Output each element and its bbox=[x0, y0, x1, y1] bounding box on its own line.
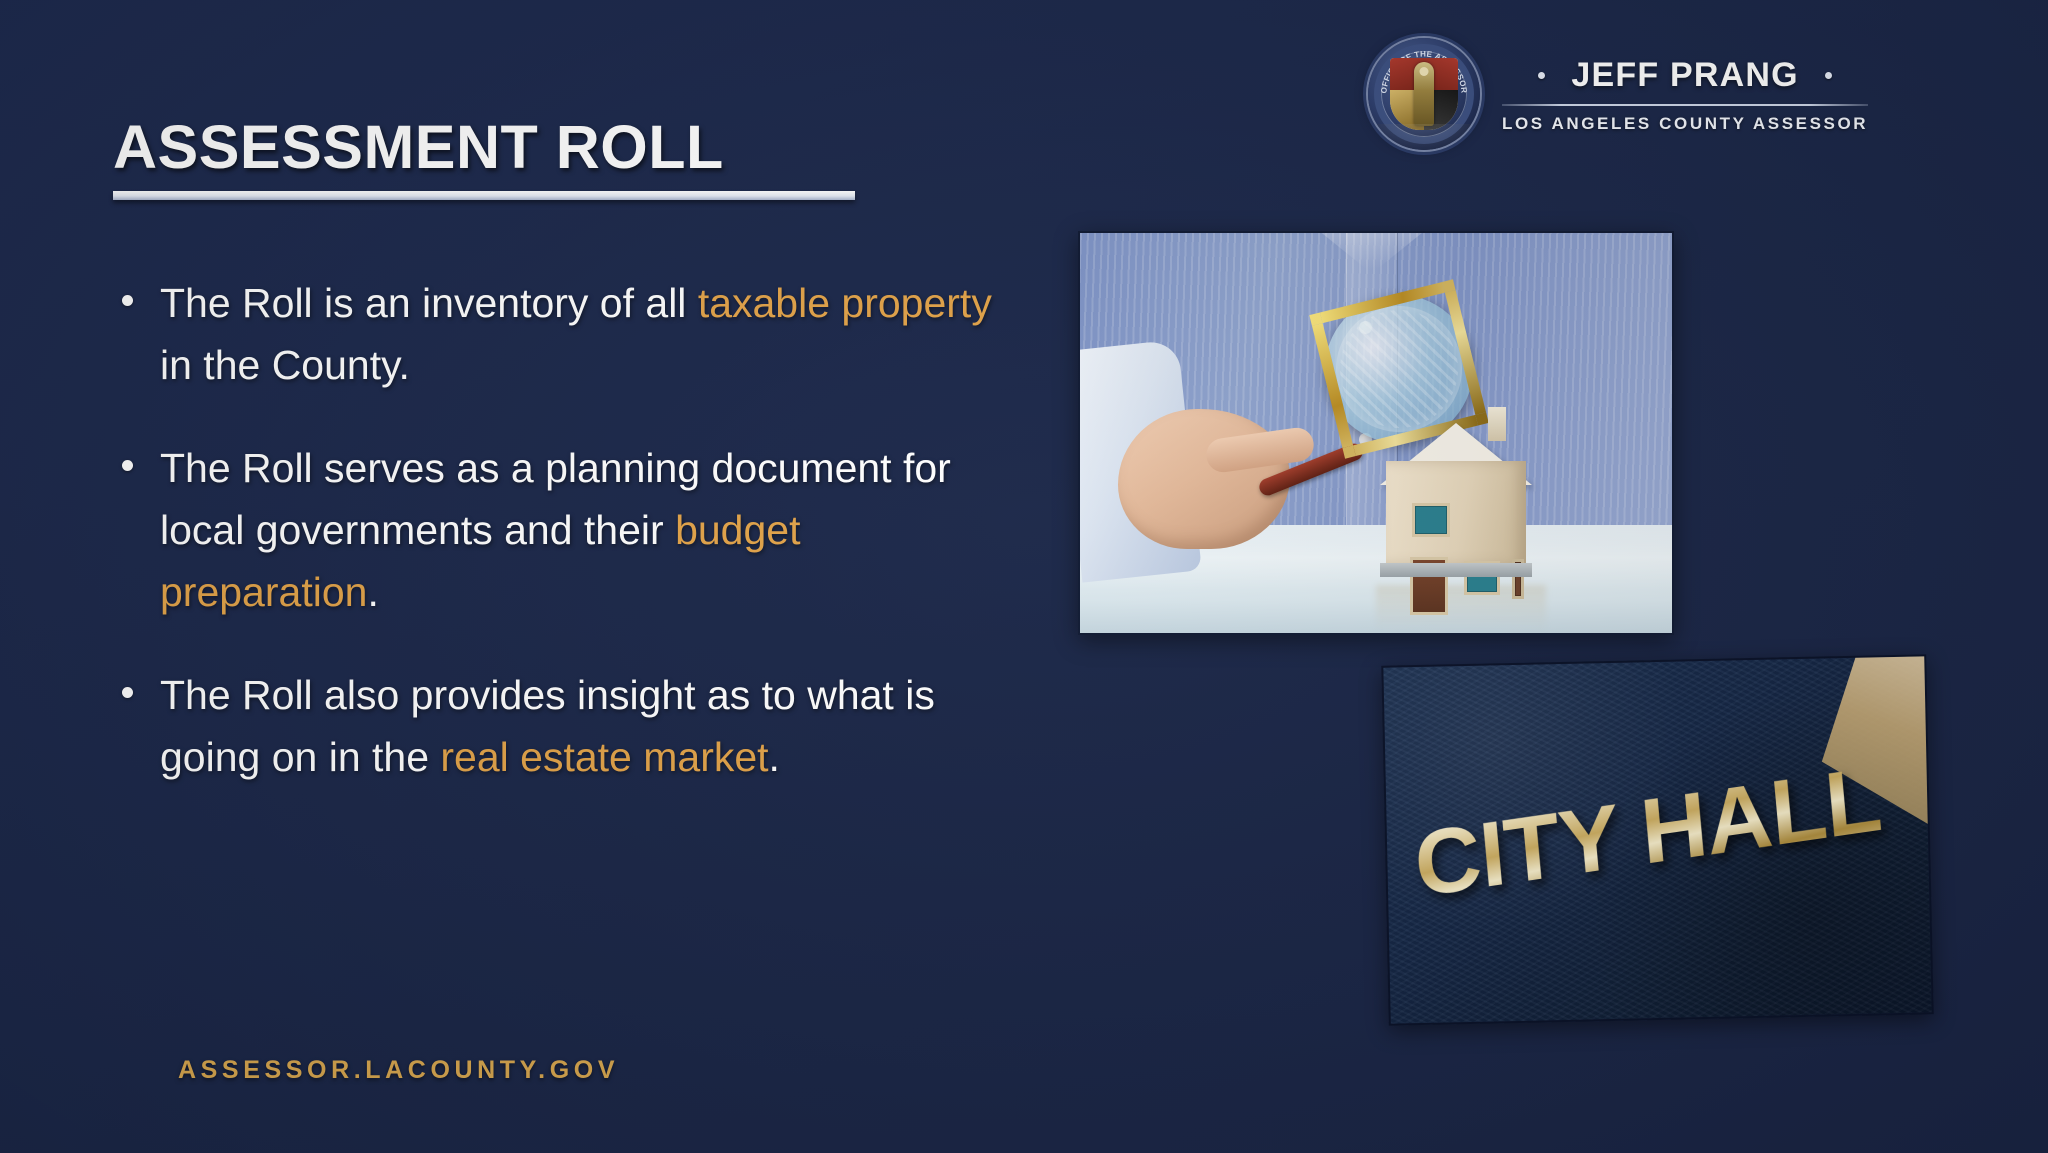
brand-name-row: JEFF PRANG bbox=[1502, 56, 1868, 95]
seal-shield bbox=[1390, 58, 1458, 130]
photo-magnifying-glass-house bbox=[1078, 231, 1674, 635]
model-house-icon bbox=[1380, 401, 1552, 577]
brand-text-block: JEFF PRANG LOS ANGELES COUNTY ASSESSOR bbox=[1502, 54, 1868, 134]
plain-phrase: . bbox=[769, 734, 780, 780]
assessor-office-subtitle: LOS ANGELES COUNTY ASSESSOR bbox=[1502, 114, 1868, 134]
photo-house-window bbox=[1412, 503, 1450, 537]
page-title: ASSESSMENT ROLL bbox=[113, 112, 855, 182]
title-underline bbox=[113, 191, 855, 200]
list-item: The Roll also provides insight as to wha… bbox=[122, 664, 1002, 789]
plain-phrase: The Roll is an inventory of all bbox=[160, 280, 698, 326]
bullet-marker-icon bbox=[122, 295, 133, 306]
plain-phrase: in the County. bbox=[160, 342, 410, 388]
plain-phrase: . bbox=[367, 569, 378, 615]
list-item: The Roll serves as a planning document f… bbox=[122, 437, 1002, 624]
photo-house-base bbox=[1380, 563, 1532, 577]
brand-lockup: OFFICE OF THE ASSESSOR JEFF PRANG JEFF bbox=[1368, 38, 1868, 150]
bullet-marker-icon bbox=[122, 460, 133, 471]
photo-city-hall-sign: CITY HALL bbox=[1381, 654, 1933, 1025]
brand-divider bbox=[1502, 104, 1868, 106]
footer-website-url[interactable]: ASSESSOR.LACOUNTY.GOV bbox=[178, 1056, 619, 1085]
seal-central-figure bbox=[1414, 62, 1434, 126]
bullet-text: The Roll is an inventory of all taxable … bbox=[160, 272, 1002, 397]
county-assessor-seal-icon: OFFICE OF THE ASSESSOR JEFF PRANG bbox=[1368, 38, 1480, 150]
bullet-dot-right-icon bbox=[1825, 72, 1832, 79]
highlighted-phrase: real estate market bbox=[440, 734, 768, 780]
bullet-text: The Roll serves as a planning document f… bbox=[160, 437, 1002, 624]
assessor-name: JEFF PRANG bbox=[1571, 56, 1798, 95]
highlighted-phrase: taxable property bbox=[698, 280, 992, 326]
page-title-block: ASSESSMENT ROLL bbox=[113, 112, 855, 200]
list-item: The Roll is an inventory of all taxable … bbox=[122, 272, 1002, 397]
bullet-dot-left-icon bbox=[1538, 72, 1545, 79]
bullet-list: The Roll is an inventory of all taxable … bbox=[122, 272, 1002, 788]
bullet-text: The Roll also provides insight as to wha… bbox=[160, 664, 1002, 789]
photo-house-body bbox=[1386, 461, 1526, 565]
seal-shading bbox=[1368, 124, 1480, 150]
bullet-marker-icon bbox=[122, 687, 133, 698]
plain-phrase: The Roll serves as a planning document f… bbox=[160, 445, 951, 553]
slide-canvas: OFFICE OF THE ASSESSOR JEFF PRANG JEFF bbox=[0, 0, 2048, 1153]
